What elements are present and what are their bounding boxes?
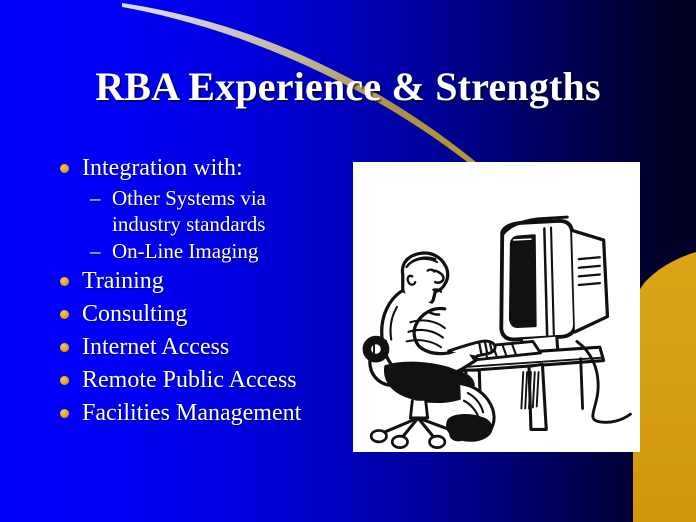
list-item: – On-Line Imaging bbox=[52, 238, 352, 264]
list-item: Internet Access bbox=[52, 331, 352, 363]
bullet-dot-icon bbox=[60, 164, 69, 173]
slide-picture bbox=[353, 162, 640, 452]
list-item: Remote Public Access bbox=[52, 364, 352, 396]
list-item: – Other Systems via industry standards bbox=[52, 185, 352, 237]
bullet-label-line: On-Line Imaging bbox=[112, 238, 352, 264]
slide-title: RBA Experience & Strengths bbox=[0, 63, 696, 110]
bullet-label: Remote Public Access bbox=[82, 367, 297, 393]
list-item: Training bbox=[52, 265, 352, 297]
bullet-label-line: industry standards bbox=[112, 211, 352, 237]
bullet-label: Consulting bbox=[82, 301, 187, 327]
bullet-dot-icon bbox=[60, 409, 69, 418]
bullet-dot-icon bbox=[60, 310, 69, 319]
bullet-label-line: Other Systems via bbox=[112, 185, 352, 211]
bullet-label: On-Line Imaging bbox=[112, 238, 352, 264]
bullet-label: Internet Access bbox=[82, 334, 229, 360]
bullet-dot-icon bbox=[60, 376, 69, 385]
list-item: Integration with: bbox=[52, 152, 352, 184]
en-dash-icon: – bbox=[90, 185, 101, 211]
bullet-label: Other Systems via industry standards bbox=[112, 185, 352, 237]
person-at-computer-clipart-icon bbox=[353, 162, 640, 452]
list-item: Consulting bbox=[52, 298, 352, 330]
bullet-label: Integration with: bbox=[82, 155, 243, 181]
bullet-dot-icon bbox=[60, 277, 69, 286]
corner-wedge bbox=[633, 252, 696, 522]
list-item: Facilities Management bbox=[52, 397, 352, 429]
bullet-dot-icon bbox=[60, 343, 69, 352]
en-dash-icon: – bbox=[90, 238, 101, 264]
bullet-label: Facilities Management bbox=[82, 400, 301, 426]
bullet-label: Training bbox=[82, 268, 164, 294]
presentation-slide: RBA Experience & Strengths Integration w… bbox=[0, 0, 696, 522]
bullet-list: Integration with: – Other Systems via in… bbox=[52, 152, 352, 430]
